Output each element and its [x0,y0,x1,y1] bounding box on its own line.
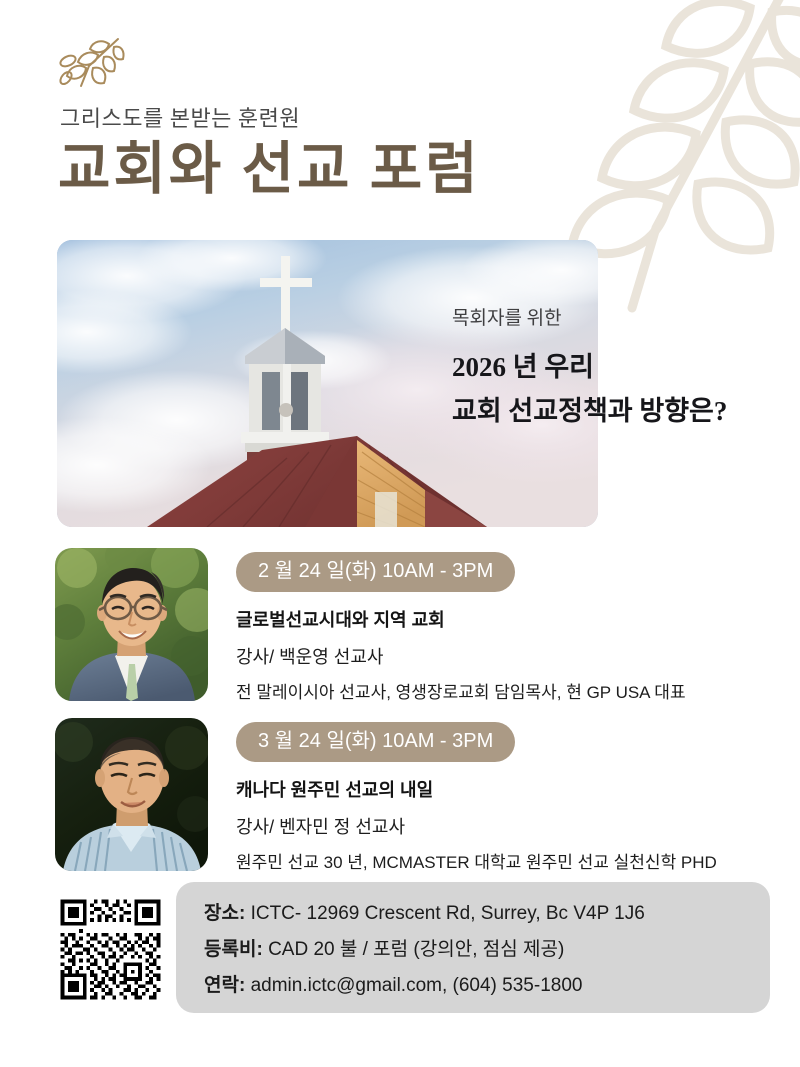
speaker-portrait [55,718,208,871]
page-title: 교회와 선교 포럼 [58,138,481,202]
session-speaker: 강사/ 벤자민 정 선교사 [236,813,717,839]
info-row-fee: 등록비: CAD 20 불 / 포럼 (강의안, 점심 제공) [204,940,770,959]
info-row-venue: 장소: ICTC- 12969 Crescent Rd, Surrey, Bc … [204,904,770,923]
session-row: 3 월 24 일(화) 10AM - 3PM 캐나다 원주민 선교의 내일 강사… [55,718,717,873]
event-info-box: 장소: ICTC- 12969 Crescent Rd, Surrey, Bc … [176,882,770,1013]
session-credentials: 전 말레이시아 선교사, 영생장로교회 담임목사, 현 GP USA 대표 [236,678,686,703]
info-label: 등록비: [204,939,263,960]
wheat-sprig-icon [55,28,127,100]
session-speaker: 강사/ 백운영 선교사 [236,643,686,669]
session-details: 3 월 24 일(화) 10AM - 3PM 캐나다 원주민 선교의 내일 강사… [236,718,717,873]
info-label: 장소: [204,903,245,924]
hero-headline-line-1: 2026 년 우리 [452,346,727,390]
info-value: admin.ictc@gmail.com, (604) 535-1800 [251,975,583,996]
session-title: 캐나다 원주민 선교의 내일 [236,776,717,802]
session-date-badge: 3 월 24 일(화) 10AM - 3PM [236,722,515,762]
info-value: CAD 20 불 / 포럼 (강의안, 점심 제공) [268,939,564,960]
session-title: 글로벌선교시대와 지역 교회 [236,606,686,632]
speaker-portrait [55,548,208,701]
info-row-contact: 연락: admin.ictc@gmail.com, (604) 535-1800 [204,976,770,995]
hero-text-block: 목회자를 위한 2026 년 우리 교회 선교정책과 방향은? [452,303,727,433]
info-label: 연락: [204,975,245,996]
session-details: 2 월 24 일(화) 10AM - 3PM 글로벌선교시대와 지역 교회 강사… [236,548,686,703]
hero-kicker: 목회자를 위한 [452,303,727,330]
session-row: 2 월 24 일(화) 10AM - 3PM 글로벌선교시대와 지역 교회 강사… [55,548,686,703]
session-date-badge: 2 월 24 일(화) 10AM - 3PM [236,552,515,592]
session-credentials: 원주민 선교 30 년, MCMASTER 대학교 원주민 선교 실천신학 PH… [236,848,717,873]
hero-headline-line-2: 교회 선교정책과 방향은? [452,390,727,434]
registration-qr-code[interactable] [57,896,164,1003]
info-value: ICTC- 12969 Crescent Rd, Surrey, Bc V4P … [251,903,645,924]
poster-root: 그리스도를 본받는 훈련원 교회와 선교 포럼 [0,0,800,1067]
page-subtitle: 그리스도를 본받는 훈련원 [60,101,300,133]
